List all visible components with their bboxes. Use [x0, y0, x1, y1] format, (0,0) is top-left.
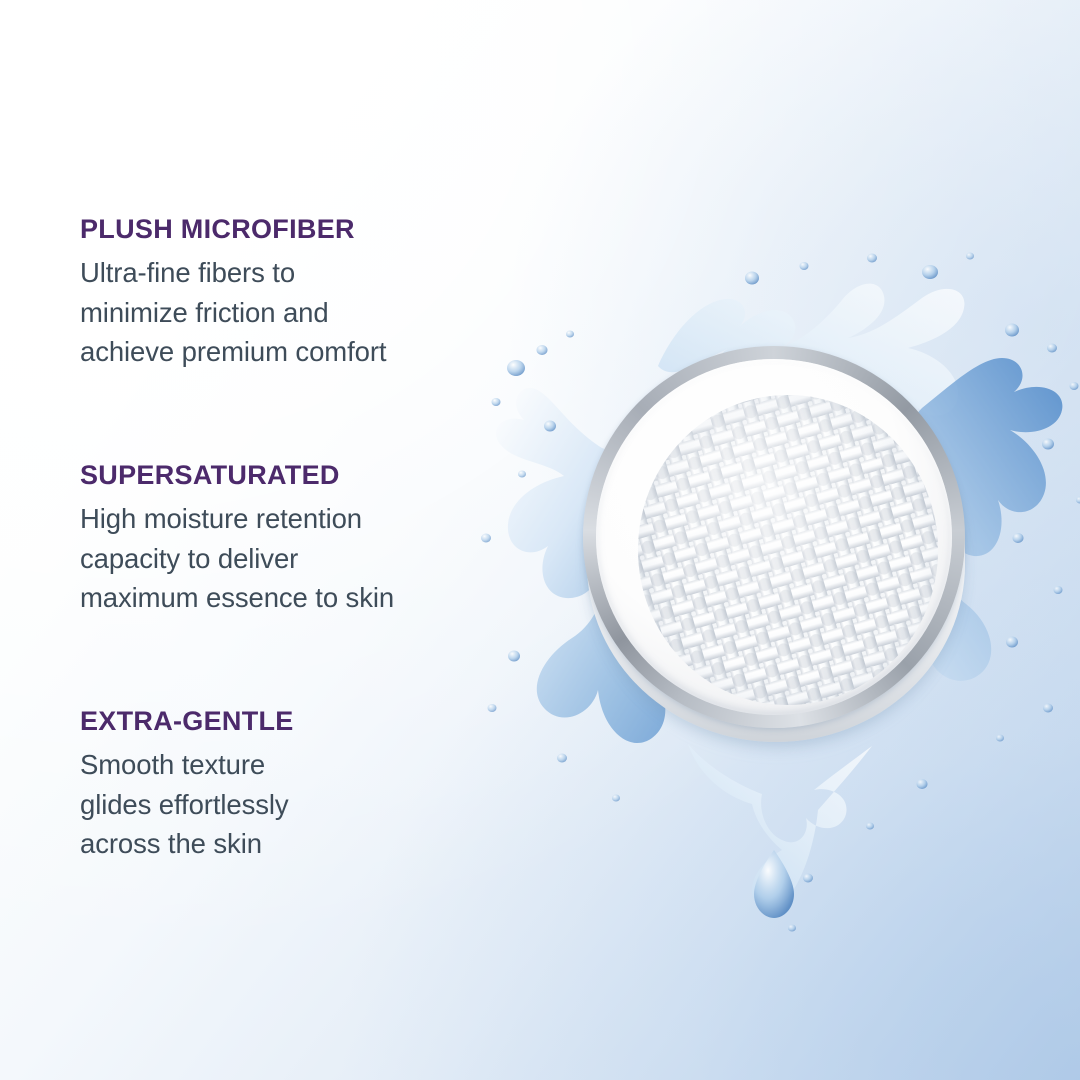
- infographic-canvas: PLUSH MICROFIBER Ultra-fine fibers to mi…: [0, 0, 1080, 1080]
- feature-body: Ultra-fine fibers to minimize friction a…: [80, 253, 480, 372]
- pad-weave-surface: [638, 395, 938, 705]
- feature-heading: EXTRA-GENTLE: [80, 706, 480, 736]
- feature-list: PLUSH MICROFIBER Ultra-fine fibers to mi…: [80, 214, 480, 864]
- feature-heading: PLUSH MICROFIBER: [80, 214, 480, 244]
- product-hero: · · · · · · ·: [452, 238, 1080, 938]
- pad-white-bezel: [596, 359, 952, 715]
- basketweave-texture-icon: [638, 395, 938, 705]
- feature-item-supersaturated: SUPERSATURATED High moisture retention c…: [80, 460, 480, 618]
- feature-item-plush-microfiber: PLUSH MICROFIBER Ultra-fine fibers to mi…: [80, 214, 480, 372]
- feature-item-extra-gentle: EXTRA-GENTLE Smooth texture glides effor…: [80, 706, 480, 864]
- feature-body: Smooth texture glides effortlessly acros…: [80, 745, 480, 864]
- feature-body: High moisture retention capacity to deli…: [80, 499, 480, 618]
- pad-metallic-ring: [583, 346, 965, 728]
- feature-heading: SUPERSATURATED: [80, 460, 480, 490]
- microfiber-pad: · · · · · · ·: [575, 338, 977, 762]
